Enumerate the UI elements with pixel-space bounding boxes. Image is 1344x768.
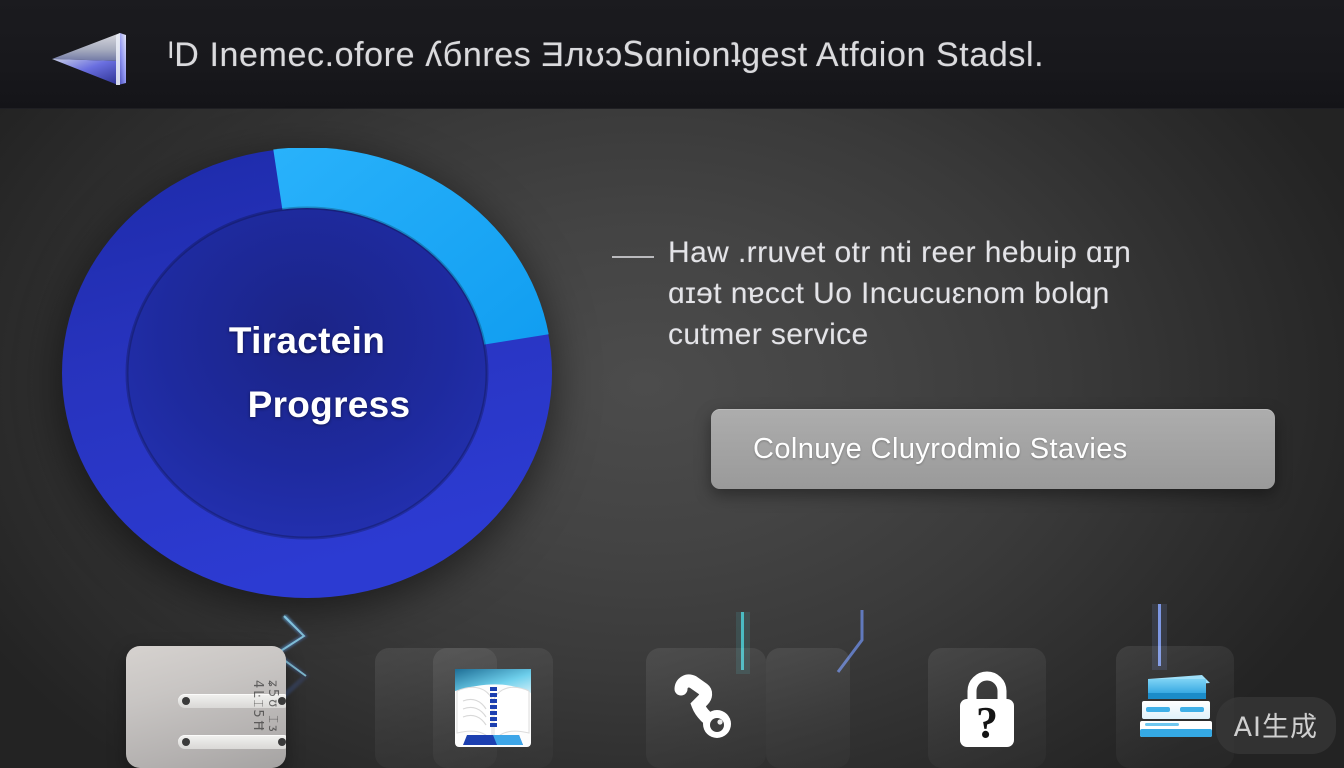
lock-question-icon: ? [949, 667, 1025, 749]
ai-watermark-text: AI生成 [1234, 705, 1318, 744]
checklist-card[interactable]: ʑ5ʊ ⌶ᴣ 4Ŀ⌶5Ħ [126, 646, 286, 768]
bullet-text: Haw .rruvet otr nti reer hebuip ɑɪɲ ɑɪɘt… [668, 232, 1131, 355]
header-title: ᴵD Inemec.ofore ʎбnres Ǝлʊɔꓢɑnionʇgest A… [168, 0, 1044, 109]
slide-canvas: ᴵD Inemec.ofore ʎбnres Ǝлʊɔꓢɑnionʇgest A… [0, 0, 1344, 768]
stacked-books-icon [1132, 667, 1218, 747]
description-block: Haw .rruvet otr nti reer hebuip ɑɪɲ ɑɪɘt… [612, 232, 1252, 355]
triangle-prism-logo-icon[interactable] [48, 27, 144, 89]
security-card[interactable]: ? [928, 648, 1046, 768]
book-card-overlap[interactable] [433, 648, 553, 768]
bullet-item: Haw .rruvet otr nti reer hebuip ɑɪɲ ɑɪɘt… [612, 232, 1252, 355]
blank-card[interactable] [766, 648, 850, 768]
support-card[interactable] [646, 648, 766, 768]
checklist-glyph-labels: ʑ5ʊ ⌶ᴣ 4Ŀ⌶5Ħ [250, 680, 280, 768]
library-card[interactable] [1116, 646, 1234, 768]
dash-icon [612, 256, 654, 258]
cta-button[interactable]: Colnuye Cluyrodmio Stavies [711, 409, 1275, 489]
ai-watermark-badge: AI生成 [1216, 697, 1336, 754]
progress-donut-chart[interactable]: Tiractein Progress [62, 148, 552, 598]
bullet-line-2: ɑɪɘt nɐcct Uo Incucuɛnom bolɑɲ [668, 273, 1131, 314]
svg-text:?: ? [976, 698, 998, 747]
header-bar: ᴵD Inemec.ofore ʎбnres Ǝлʊɔꓢɑnionʇgest A… [0, 0, 1344, 109]
open-book-icon [453, 667, 533, 749]
phone-icon [667, 669, 745, 747]
bullet-line-3: cutmer service [668, 314, 1131, 355]
cta-button-label: Colnuye Cluyrodmio Stavies [753, 433, 1128, 466]
bullet-line-1: Haw .rruvet otr nti reer hebuip ɑɪɲ [668, 232, 1131, 273]
